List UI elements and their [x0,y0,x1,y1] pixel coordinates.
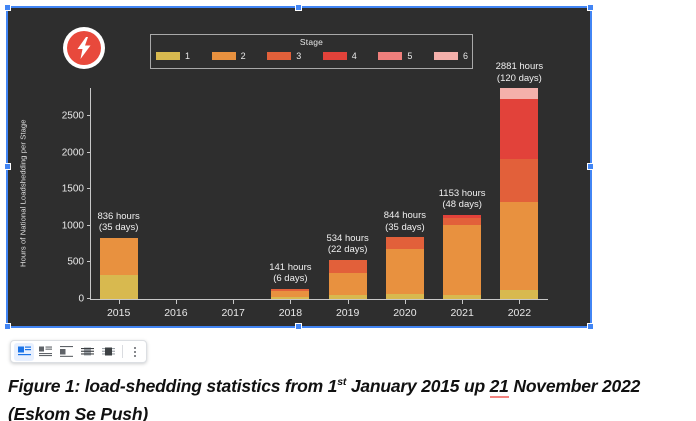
bar-annotation-2022: 2881 hours(120 days) [496,61,544,84]
legend-swatch-stage-4 [323,52,347,60]
bar-2020[interactable] [386,237,424,299]
bar-segment-2021-stage-3 [443,218,481,225]
resize-handle-top-middle[interactable] [295,4,302,11]
eskom-se-push-logo [63,27,105,69]
bar-2015[interactable] [100,238,138,299]
bar-2022[interactable] [500,88,538,299]
y-tick [87,298,91,299]
y-tick-label: 2500 [62,111,84,122]
x-tick [233,300,234,304]
wrap-option-behind-text[interactable] [77,343,97,361]
bar-segment-2019-stage-2 [329,273,367,295]
annotation-hours: 2881 hours [496,61,544,73]
resize-handle-top-left[interactable] [4,4,11,11]
break-text-icon [60,346,73,357]
y-tick-label: 1500 [62,184,84,195]
lightning-bolt-icon [76,37,92,59]
legend-swatch-stage-2 [212,52,236,60]
y-tick [87,152,91,153]
annotation-hours: 844 hours [384,210,426,222]
bar-segment-2015-stage-1 [100,275,138,299]
caption-ordinal: st [337,376,346,388]
bar-segment-2020-stage-1 [386,294,424,299]
legend-item-stage-4[interactable]: 4 [323,51,357,61]
wrap-option-break-text[interactable] [56,343,76,361]
x-tick [519,300,520,304]
bar-annotation-2019: 534 hours(22 days) [326,233,368,256]
y-tick [87,115,91,116]
legend-items: 123456 [156,51,468,61]
wrap-inline-icon [18,346,31,357]
legend-label-stage-1: 1 [185,51,190,61]
x-tick [405,300,406,304]
y-axis-line [90,88,91,300]
legend-item-stage-3[interactable]: 3 [267,51,301,61]
caption-mid: January 2015 up [346,376,489,396]
resize-handle-middle-left[interactable] [4,163,11,170]
selected-image-frame[interactable]: Stage 123456 Hours of National Loadshedd… [6,6,592,328]
x-tick-label-2017: 2017 [221,307,244,319]
annotation-days: (120 days) [496,73,544,85]
legend-label-stage-2: 2 [241,51,246,61]
kebab-dot [134,355,136,357]
bar-segment-2019-stage-1 [329,295,367,299]
bar-segment-2022-stage-4 [500,99,538,159]
y-tick-label: 0 [78,294,84,305]
resize-handle-top-right[interactable] [587,4,594,11]
figure-caption: Figure 1: load-shedding statistics from … [8,368,688,421]
resize-handle-bottom-left[interactable] [4,323,11,330]
bar-segment-2022-stage-2 [500,202,538,290]
bar-segment-2021-stage-1 [443,295,481,299]
annotation-days: (35 days) [97,222,139,234]
y-tick [87,188,91,189]
x-axis-line [90,299,548,300]
legend-swatch-stage-1 [156,52,180,60]
image-wrap-toolbar[interactable] [10,340,147,363]
bar-segment-2022-stage-6 [500,88,538,99]
in-front-of-text-icon [102,346,115,357]
x-tick-label-2015: 2015 [107,307,130,319]
legend-item-stage-6[interactable]: 6 [434,51,468,61]
bar-segment-2015-stage-2 [100,238,138,275]
y-tick-label: 2000 [62,147,84,158]
wrap-option-inline[interactable] [14,343,34,361]
x-tick [462,300,463,304]
bar-annotation-2020: 844 hours(35 days) [384,210,426,233]
x-tick [348,300,349,304]
x-tick [119,300,120,304]
bar-segment-2019-stage-3 [329,260,367,273]
bar-segment-2020-stage-2 [386,249,424,294]
bar-2021[interactable] [443,215,481,299]
legend-swatch-stage-6 [434,52,458,60]
annotation-days: (48 days) [439,199,486,211]
behind-text-icon [81,346,94,357]
annotation-hours: 1153 hours [439,188,486,200]
x-tick-label-2019: 2019 [336,307,359,319]
y-tick-label: 1000 [62,220,84,231]
annotation-days: (35 days) [384,222,426,234]
legend-swatch-stage-5 [378,52,402,60]
x-tick-label-2020: 2020 [393,307,416,319]
annotation-days: (22 days) [326,244,368,256]
y-tick-label: 500 [67,257,84,268]
annotation-hours: 141 hours [269,262,311,274]
caption-flagged-word: 21 [490,376,509,398]
kebab-dot [134,347,136,349]
caption-prefix: Figure 1: load-shedding statistics from … [8,376,337,396]
legend-label-stage-4: 4 [352,51,357,61]
bar-annotation-2015: 836 hours(35 days) [97,211,139,234]
bar-2018[interactable] [271,289,309,299]
x-tick-label-2018: 2018 [279,307,302,319]
bar-segment-2018-stage-1 [271,297,309,299]
bar-segment-2020-stage-3 [386,237,424,249]
bar-segment-2021-stage-2 [443,225,481,294]
x-tick-label-2022: 2022 [508,307,531,319]
y-tick [87,225,91,226]
bar-2019[interactable] [329,260,367,299]
legend-swatch-stage-3 [267,52,291,60]
legend-title: Stage [151,37,472,47]
bar-annotation-2021: 1153 hours(48 days) [439,188,486,211]
chart-legend: Stage 123456 [150,34,473,69]
x-tick [176,300,177,304]
plot-area: 050010001500200025002015836 hours(35 day… [90,80,548,300]
wrap-text-icon [39,346,52,357]
resize-handle-bottom-middle[interactable] [295,323,302,330]
bar-segment-2022-stage-3 [500,159,538,201]
y-axis-title: Hours of National Loadshedding per Stage [16,86,30,301]
more-options-button[interactable] [127,343,143,361]
wrap-option-wrap-text[interactable] [35,343,55,361]
document-page: Stage 123456 Hours of National Loadshedd… [0,0,696,421]
logo-disc [67,31,101,65]
y-tick [87,261,91,262]
wrap-option-in-front-of-text[interactable] [98,343,118,361]
legend-label-stage-5: 5 [407,51,412,61]
annotation-days: (6 days) [269,273,311,285]
legend-item-stage-1[interactable]: 1 [156,51,190,61]
bar-segment-2022-stage-1 [500,290,538,300]
legend-label-stage-6: 6 [463,51,468,61]
kebab-dot [134,351,136,353]
legend-item-stage-2[interactable]: 2 [212,51,246,61]
toolbar-separator [122,345,123,358]
resize-handle-middle-right[interactable] [587,163,594,170]
legend-label-stage-3: 3 [296,51,301,61]
bar-annotation-2018: 141 hours(6 days) [269,262,311,285]
chart-canvas: Stage 123456 Hours of National Loadshedd… [8,8,590,326]
annotation-hours: 534 hours [326,233,368,245]
resize-handle-bottom-right[interactable] [587,323,594,330]
annotation-hours: 836 hours [97,211,139,223]
x-tick-label-2021: 2021 [450,307,473,319]
x-tick [290,300,291,304]
legend-item-stage-5[interactable]: 5 [378,51,412,61]
x-tick-label-2016: 2016 [164,307,187,319]
